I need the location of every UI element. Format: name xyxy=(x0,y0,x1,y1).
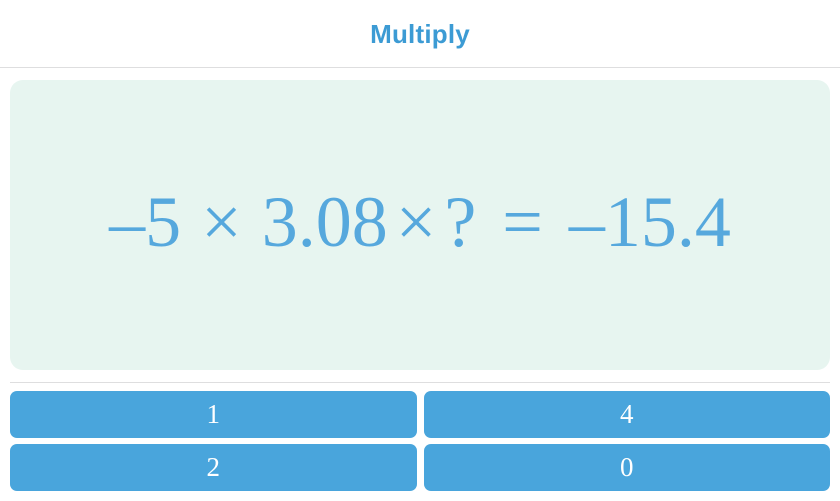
answer-options-grid: 1 4 2 0 xyxy=(0,383,840,501)
answer-option-button[interactable]: 0 xyxy=(424,444,831,491)
answer-option-button[interactable]: 1 xyxy=(10,391,417,438)
equation-result: –15.4 xyxy=(569,186,731,258)
multiplication-operator-icon: × xyxy=(396,186,437,258)
multiplication-operator-icon: × xyxy=(201,186,242,258)
equation-middle-operand: 3.08 xyxy=(262,186,388,258)
question-panel-wrapper: –5 × 3.08 × ? = –15.4 xyxy=(0,68,840,370)
equation-left-operand: –5 xyxy=(109,186,181,258)
answer-option-button[interactable]: 4 xyxy=(424,391,831,438)
question-panel: –5 × 3.08 × ? = –15.4 xyxy=(10,80,830,370)
multiply-exercise-app: Multiply –5 × 3.08 × ? = –15.4 1 4 2 0 xyxy=(0,0,840,501)
equation-unknown-placeholder: ? xyxy=(444,186,476,258)
equation-display: –5 × 3.08 × ? = –15.4 xyxy=(109,186,731,264)
app-header: Multiply xyxy=(0,0,840,68)
equals-operator-icon: = xyxy=(502,186,543,258)
answer-option-button[interactable]: 2 xyxy=(10,444,417,491)
page-title: Multiply xyxy=(370,21,470,47)
